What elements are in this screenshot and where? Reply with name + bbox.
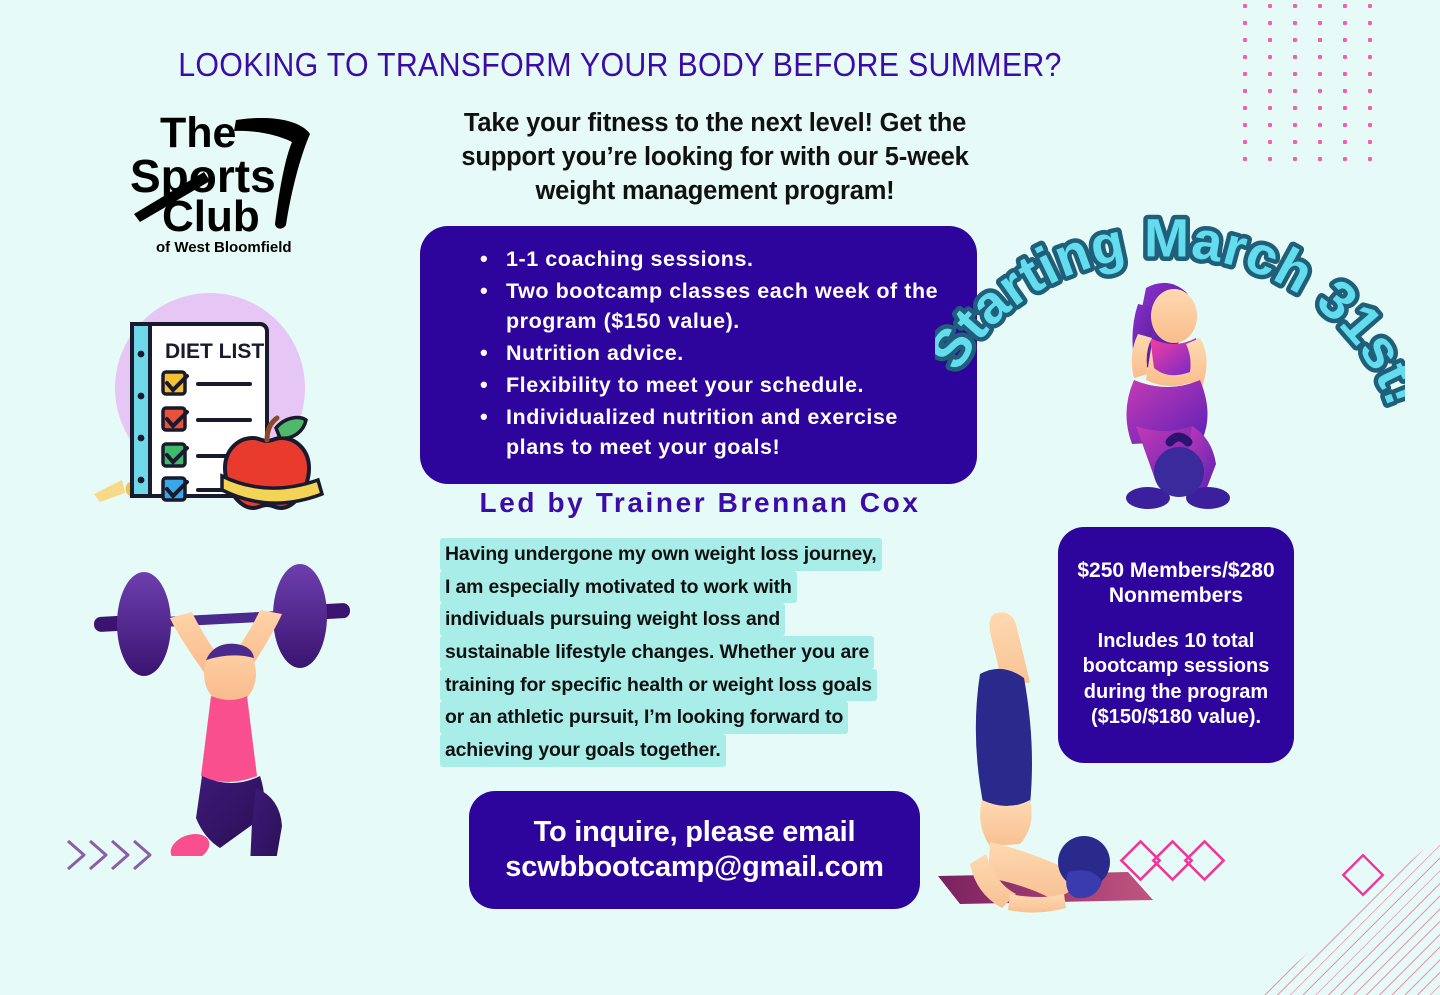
dot bbox=[1368, 157, 1372, 161]
dot-grid-decoration bbox=[1243, 4, 1413, 174]
list-item: 1-1 coaching sessions. bbox=[472, 244, 943, 275]
cta-text: To inquire, please email scwbbootcamp@gm… bbox=[505, 815, 883, 885]
binder-hole-icon bbox=[138, 435, 145, 442]
dot bbox=[1368, 72, 1372, 76]
page-title: LOOKING TO TRANSFORM YOUR BODY BEFORE SU… bbox=[50, 46, 1191, 84]
testimonial-line: Having undergone my own weight loss jour… bbox=[440, 538, 882, 571]
dot bbox=[1318, 55, 1322, 59]
testimonial-line: or an athletic pursuit, I’m looking forw… bbox=[440, 701, 848, 734]
cta-line-1: To inquire, please email bbox=[534, 816, 856, 848]
dot bbox=[1268, 4, 1272, 8]
dot bbox=[1243, 89, 1247, 93]
dot bbox=[1368, 123, 1372, 127]
dot bbox=[1343, 106, 1347, 110]
dot bbox=[1268, 140, 1272, 144]
list-item: Two bootcamp classes each week of the pr… bbox=[472, 276, 943, 337]
dot bbox=[1343, 140, 1347, 144]
kettlebell-handle bbox=[1170, 437, 1188, 442]
testimonial-line: training for specific health or weight l… bbox=[440, 669, 877, 702]
list-item: Nutrition advice. bbox=[472, 338, 943, 369]
dot bbox=[1243, 38, 1247, 42]
dot bbox=[1318, 123, 1322, 127]
dot bbox=[1368, 38, 1372, 42]
dot bbox=[1368, 4, 1372, 8]
dot bbox=[1318, 4, 1322, 8]
binder-hole-icon bbox=[138, 477, 145, 484]
trainer-testimonial: Having undergone my own weight loss jour… bbox=[440, 538, 952, 767]
dot bbox=[1343, 123, 1347, 127]
dot bbox=[1293, 55, 1297, 59]
dot bbox=[1318, 72, 1322, 76]
dot bbox=[1243, 4, 1247, 8]
dot bbox=[1243, 106, 1247, 110]
dot bbox=[1268, 106, 1272, 110]
dot bbox=[1343, 72, 1347, 76]
dot bbox=[1293, 106, 1297, 110]
dot bbox=[1343, 4, 1347, 8]
dot bbox=[1293, 157, 1297, 161]
dot bbox=[1268, 21, 1272, 25]
dot bbox=[1268, 89, 1272, 93]
leg-back bbox=[250, 788, 282, 856]
pencil-tip-icon bbox=[94, 480, 125, 502]
kettlebell-icon bbox=[1154, 447, 1204, 497]
weightlifter-illustration bbox=[78, 556, 368, 856]
dot bbox=[1243, 157, 1247, 161]
dot bbox=[1293, 140, 1297, 144]
chevron-decoration bbox=[62, 833, 162, 882]
dot bbox=[1243, 72, 1247, 76]
dot bbox=[1368, 106, 1372, 110]
testimonial-line: individuals pursuing weight loss and bbox=[440, 603, 785, 636]
dot bbox=[1343, 38, 1347, 42]
dot bbox=[1268, 157, 1272, 161]
clipboard-spine bbox=[132, 324, 150, 496]
hips-torso bbox=[980, 800, 1031, 846]
tank-top bbox=[201, 696, 257, 782]
dot bbox=[1243, 140, 1247, 144]
dot bbox=[1318, 89, 1322, 93]
dot bbox=[1293, 72, 1297, 76]
barbell-plate-left bbox=[117, 572, 171, 676]
dot bbox=[1318, 38, 1322, 42]
dot bbox=[1368, 140, 1372, 144]
testimonial-line: achieving your goals together. bbox=[440, 734, 726, 767]
testimonial-line: I am especially motivated to work with bbox=[440, 571, 797, 604]
intro-paragraph: Take your fitness to the next level! Get… bbox=[420, 106, 1010, 208]
barbell-plate-right bbox=[273, 564, 327, 668]
testimonial-line: sustainable lifestyle changes. Whether y… bbox=[440, 636, 874, 669]
dot bbox=[1268, 38, 1272, 42]
dot bbox=[1268, 55, 1272, 59]
dot bbox=[1368, 89, 1372, 93]
dot bbox=[1243, 21, 1247, 25]
dot bbox=[1368, 55, 1372, 59]
dot bbox=[1268, 123, 1272, 127]
dot bbox=[1293, 4, 1297, 8]
dot bbox=[1293, 38, 1297, 42]
dot bbox=[1318, 21, 1322, 25]
diet-list-illustration: DIET LIST bbox=[70, 288, 340, 513]
list-item: Individualized nutrition and exercise pl… bbox=[472, 402, 943, 463]
leggings bbox=[976, 669, 1032, 808]
dot bbox=[1318, 157, 1322, 161]
dot bbox=[1318, 140, 1322, 144]
program-features-card: 1-1 coaching sessions. Two bootcamp clas… bbox=[420, 226, 977, 484]
dot bbox=[1343, 157, 1347, 161]
email-cta-card[interactable]: To inquire, please email scwbbootcamp@gm… bbox=[469, 791, 920, 909]
dot bbox=[1268, 72, 1272, 76]
diamond-chain-decoration bbox=[1118, 838, 1236, 892]
dot bbox=[1293, 21, 1297, 25]
logo-tagline: of West Bloomfield bbox=[156, 239, 292, 255]
dot bbox=[1343, 89, 1347, 93]
dot bbox=[1243, 55, 1247, 59]
trainer-heading: Led by Trainer Brennan Cox bbox=[420, 487, 980, 519]
dot bbox=[1293, 89, 1297, 93]
head bbox=[1151, 289, 1197, 343]
dot bbox=[1243, 123, 1247, 127]
dot bbox=[1343, 21, 1347, 25]
cta-line-2: scwbbootcamp@gmail.com bbox=[505, 851, 883, 883]
program-features-list: 1-1 coaching sessions. Two bootcamp clas… bbox=[472, 244, 943, 463]
dot bbox=[1293, 123, 1297, 127]
binder-hole-icon bbox=[138, 393, 145, 400]
list-item: Flexibility to meet your schedule. bbox=[472, 370, 943, 401]
kettlebell-squat-illustration bbox=[1108, 276, 1273, 526]
flyer-canvas: LOOKING TO TRANSFORM YOUR BODY BEFORE SU… bbox=[0, 0, 1440, 960]
sports-club-logo: The Sports Club of West Bloomfield bbox=[126, 100, 326, 255]
diet-list-title: DIET LIST bbox=[165, 340, 264, 363]
pricing-headline: $250 Members/$280 Nonmembers bbox=[1066, 559, 1286, 609]
binder-hole-icon bbox=[138, 351, 145, 358]
dot bbox=[1318, 106, 1322, 110]
dot bbox=[1368, 21, 1372, 25]
dot bbox=[1343, 55, 1347, 59]
